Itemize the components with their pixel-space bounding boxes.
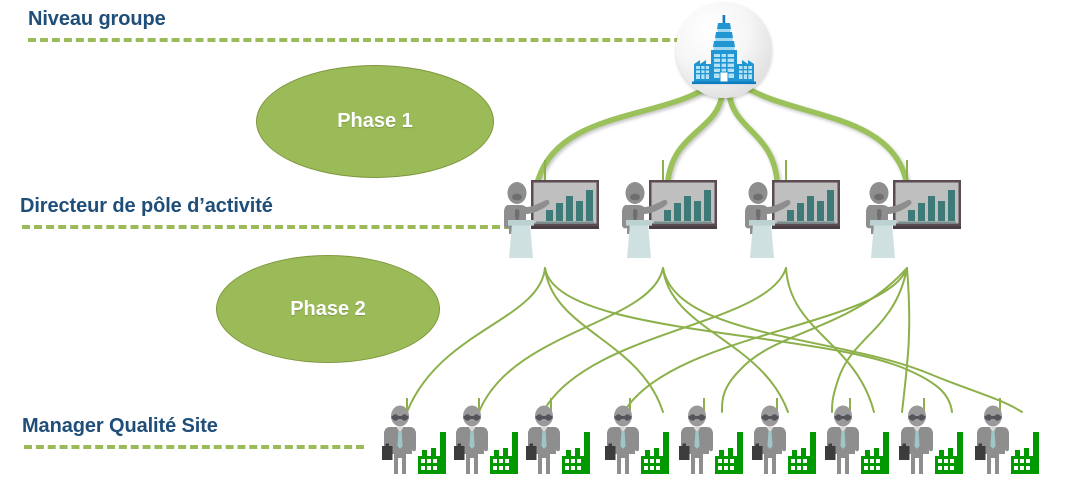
businessman-with-factory-icon <box>821 404 895 480</box>
businessman-with-factory-icon <box>748 404 822 480</box>
link-d3-m7 <box>786 268 874 412</box>
manager-node-5[interactable] <box>675 404 749 480</box>
director-node-4[interactable] <box>860 178 964 260</box>
director-stub-links <box>545 160 907 180</box>
link-d2-m2 <box>479 268 663 412</box>
manager-node-9[interactable] <box>971 404 1045 480</box>
manager-node-6[interactable] <box>748 404 822 480</box>
link-group-director-4 <box>742 85 906 180</box>
manager-node-7[interactable] <box>821 404 895 480</box>
level-label-manager: Manager Qualité Site <box>22 416 218 437</box>
diagram-canvas: Niveau groupe <box>0 0 1074 482</box>
businessman-with-factory-icon <box>895 404 969 480</box>
director-to-manager-links <box>407 268 1022 412</box>
businessman-with-factory-icon <box>971 404 1045 480</box>
phase-2-ellipse[interactable]: Phase 2 <box>216 255 440 363</box>
manager-node-1[interactable] <box>378 404 452 480</box>
link-d1-m5 <box>545 268 663 412</box>
link-d4-m7b <box>832 268 907 412</box>
link-d4-m6b <box>722 268 907 412</box>
businessman-with-factory-icon <box>601 404 675 480</box>
manager-node-4[interactable] <box>601 404 675 480</box>
level-rule-group <box>28 38 718 42</box>
phase-2-label: Phase 2 <box>290 298 366 321</box>
presenter-with-chart-icon <box>616 178 720 260</box>
manager-node-8[interactable] <box>895 404 969 480</box>
level-rule-manager <box>24 445 364 449</box>
businessman-with-factory-icon <box>450 404 524 480</box>
link-group-director-2 <box>668 94 722 180</box>
presenter-with-chart-icon <box>860 178 964 260</box>
group-node[interactable] <box>676 2 772 98</box>
director-node-2[interactable] <box>616 178 720 260</box>
link-d2-m6 <box>663 268 788 412</box>
level-rule-director <box>22 225 512 229</box>
corporate-building-icon <box>676 2 772 98</box>
director-node-3[interactable] <box>739 178 843 260</box>
director-node-1[interactable] <box>498 178 602 260</box>
businessman-with-factory-icon <box>522 404 596 480</box>
phase-1-label: Phase 1 <box>337 110 413 133</box>
link-d4-m4 <box>624 268 907 412</box>
businessman-with-factory-icon <box>378 404 452 480</box>
link-group-director-1 <box>538 85 711 180</box>
businessman-with-factory-icon <box>675 404 749 480</box>
level-label-manager-text: Manager Qualité Site <box>22 416 218 437</box>
presenter-with-chart-icon <box>498 178 602 260</box>
level-label-director: Directeur de pôle d’activité <box>20 196 273 217</box>
group-to-director-links <box>538 85 906 180</box>
manager-node-2[interactable] <box>450 404 524 480</box>
link-group-director-3 <box>729 94 777 180</box>
link-d4-m8b <box>902 268 909 412</box>
level-label-director-text: Directeur de pôle d’activité <box>20 196 273 217</box>
level-label-group-text: Niveau groupe <box>28 9 166 30</box>
level-label-group: Niveau groupe <box>28 9 166 30</box>
link-d2-m9 <box>663 268 1022 412</box>
link-d3-m3 <box>543 268 786 412</box>
link-d1-m8 <box>545 268 952 412</box>
phase-1-ellipse[interactable]: Phase 1 <box>256 65 494 178</box>
manager-node-3[interactable] <box>522 404 596 480</box>
presenter-with-chart-icon <box>739 178 843 260</box>
